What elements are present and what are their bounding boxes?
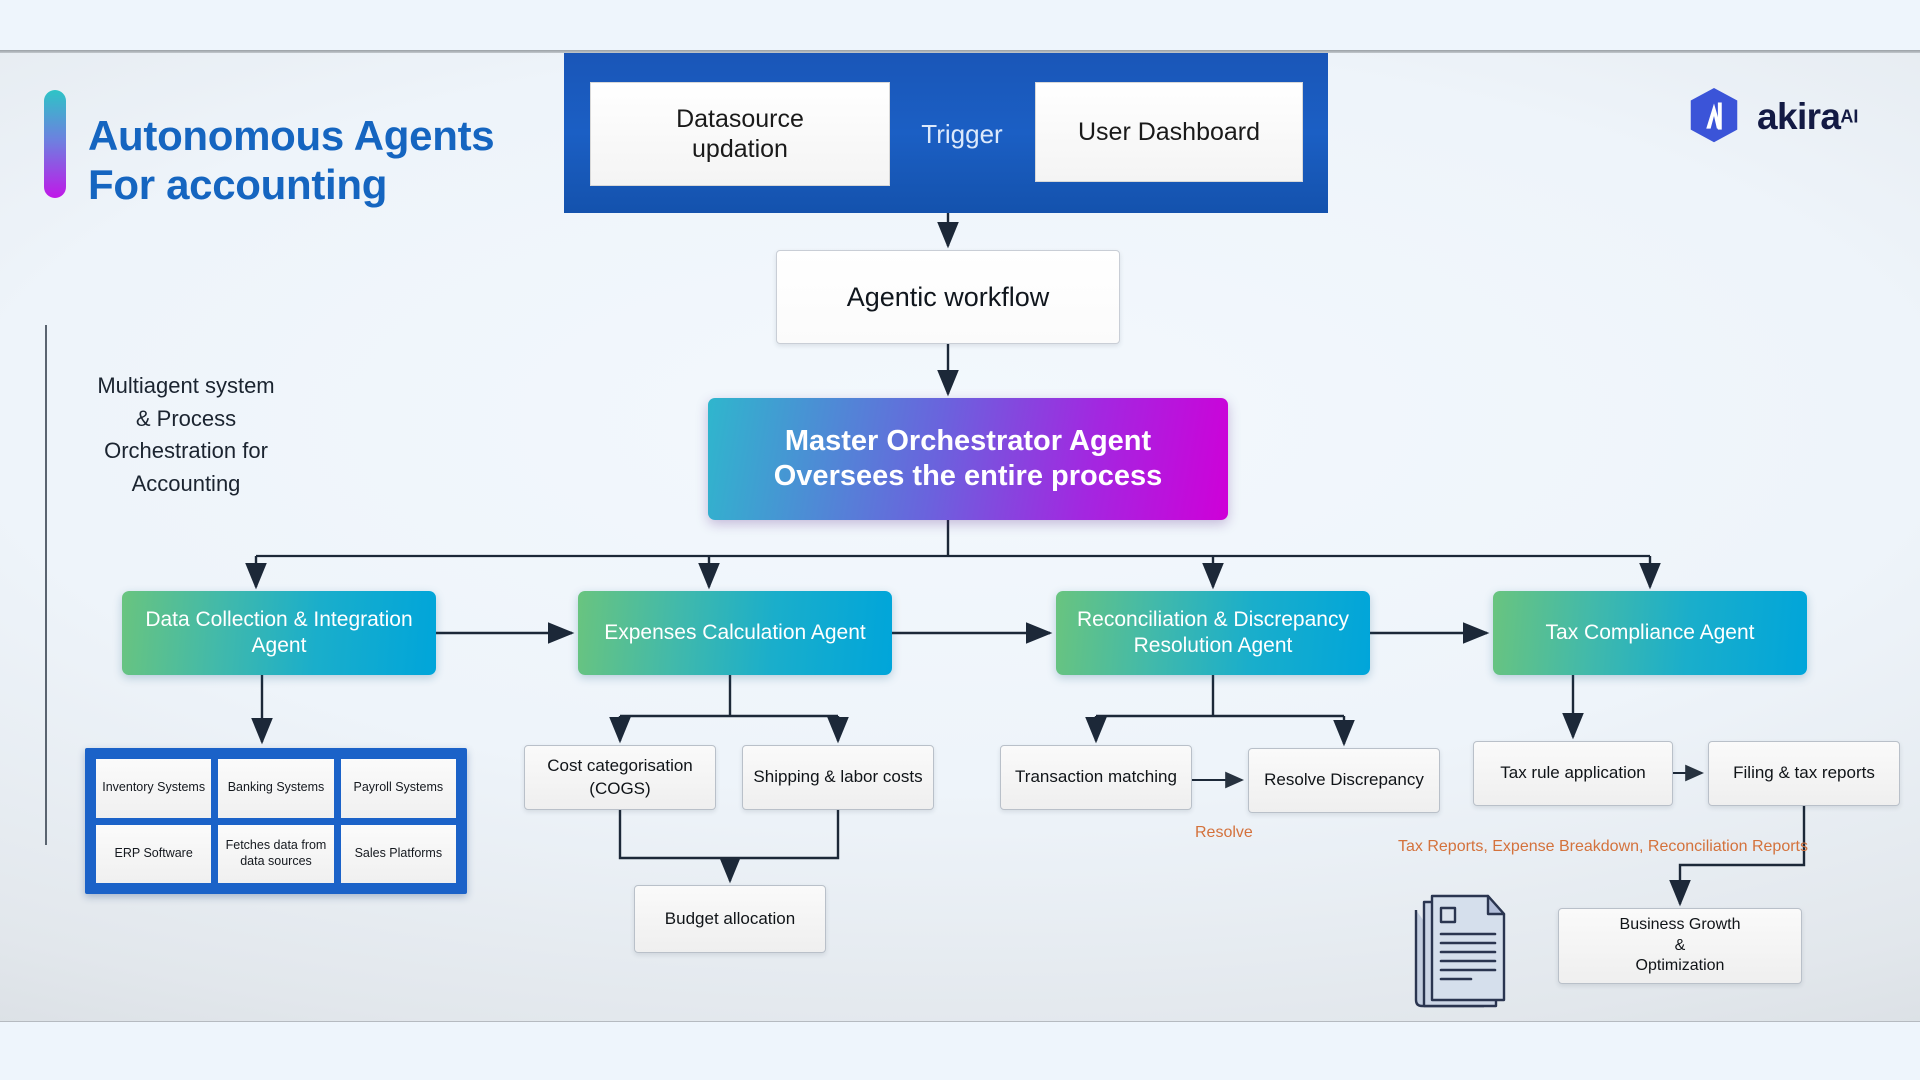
- node-resolve-discrepancy-label: Resolve Discrepancy: [1264, 769, 1424, 791]
- master-orchestrator-node[interactable]: Master Orchestrator Agent Oversees the e…: [708, 398, 1228, 520]
- title-line-1: Autonomous Agents: [88, 112, 558, 161]
- annotation-resolve: Resolve: [1195, 824, 1253, 842]
- node-tax-rule-application-label: Tax rule application: [1500, 762, 1646, 784]
- datasource-tile[interactable]: Inventory Systems: [96, 759, 211, 818]
- node-filing-tax-reports-label: Filing & tax reports: [1733, 762, 1875, 784]
- datasource-tile-label: Payroll Systems: [354, 780, 444, 796]
- brand-superscript: AI: [1840, 107, 1858, 127]
- datasource-tile[interactable]: Fetches data from data sources: [218, 825, 333, 884]
- node-shipping-labor-costs[interactable]: Shipping & labor costs: [742, 745, 934, 810]
- agent-tax-compliance[interactable]: Tax Compliance Agent: [1493, 591, 1807, 675]
- datasource-tile-label: Sales Platforms: [355, 846, 443, 862]
- agent-reconciliation-label: Reconciliation & Discrepancy Resolution …: [1068, 607, 1358, 660]
- datasource-grid: Inventory Systems Banking Systems Payrol…: [85, 748, 467, 894]
- title-accent-bar: [44, 90, 66, 198]
- datasource-tile[interactable]: Banking Systems: [218, 759, 333, 818]
- documents-stack-icon: [1408, 888, 1526, 1016]
- agent-reconciliation[interactable]: Reconciliation & Discrepancy Resolution …: [1056, 591, 1370, 675]
- datasource-tile[interactable]: ERP Software: [96, 825, 211, 884]
- brand-name: akira: [1757, 96, 1840, 137]
- agentic-workflow-node[interactable]: Agentic workflow: [776, 250, 1120, 344]
- caption-rule: [45, 325, 47, 845]
- user-dashboard-label: User Dashboard: [1078, 117, 1260, 147]
- user-dashboard-card[interactable]: User Dashboard: [1035, 82, 1303, 182]
- node-shipping-labor-costs-label: Shipping & labor costs: [753, 766, 922, 788]
- datasource-tile[interactable]: Payroll Systems: [341, 759, 456, 818]
- node-transaction-matching-label: Transaction matching: [1015, 766, 1177, 788]
- node-cost-categorisation[interactable]: Cost categorisation (COGS): [524, 745, 716, 810]
- page-title: Autonomous Agents For accounting: [88, 112, 558, 209]
- datasource-updation-label: Datasource updation: [676, 104, 804, 164]
- datasource-tile[interactable]: Sales Platforms: [341, 825, 456, 884]
- node-transaction-matching[interactable]: Transaction matching: [1000, 745, 1192, 810]
- datasource-tile-label: ERP Software: [115, 846, 193, 862]
- brand-logo: akiraAI: [1683, 86, 1858, 148]
- agent-data-collection-label: Data Collection & Integration Agent: [134, 607, 424, 660]
- title-line-2: For accounting: [88, 161, 558, 210]
- datasource-updation-card[interactable]: Datasource updation: [590, 82, 890, 186]
- brand-wordmark: akiraAI: [1757, 96, 1858, 138]
- datasource-tile-label: Fetches data from data sources: [220, 838, 331, 869]
- annotation-reports: Tax Reports, Expense Breakdown, Reconcil…: [1398, 838, 1808, 856]
- node-business-growth[interactable]: Business Growth & Optimization: [1558, 908, 1802, 984]
- akira-hexagon-logo-icon: [1683, 86, 1745, 148]
- node-budget-allocation-label: Budget allocation: [665, 908, 795, 930]
- caption-text: Multiagent system & Process Orchestratio…: [66, 370, 306, 500]
- node-tax-rule-application[interactable]: Tax rule application: [1473, 741, 1673, 806]
- orchestrator-title: Master Orchestrator Agent: [774, 424, 1162, 459]
- datasource-tile-label: Banking Systems: [228, 780, 325, 796]
- slide-canvas: Autonomous Agents For accounting Datasou…: [0, 0, 1920, 1080]
- orchestrator-subtitle: Oversees the entire process: [774, 459, 1162, 494]
- node-filing-tax-reports[interactable]: Filing & tax reports: [1708, 741, 1900, 806]
- node-budget-allocation[interactable]: Budget allocation: [634, 885, 826, 953]
- agent-tax-compliance-label: Tax Compliance Agent: [1546, 620, 1755, 646]
- node-resolve-discrepancy[interactable]: Resolve Discrepancy: [1248, 748, 1440, 813]
- trigger-text: Trigger: [921, 119, 1002, 150]
- agentic-workflow-label: Agentic workflow: [847, 282, 1050, 313]
- trigger-label: Trigger: [896, 112, 1028, 156]
- agent-data-collection[interactable]: Data Collection & Integration Agent: [122, 591, 436, 675]
- agent-expenses-calculation[interactable]: Expenses Calculation Agent: [578, 591, 892, 675]
- node-cost-categorisation-label: Cost categorisation (COGS): [533, 755, 707, 799]
- agent-expenses-calculation-label: Expenses Calculation Agent: [604, 620, 866, 646]
- datasource-tile-label: Inventory Systems: [102, 780, 205, 796]
- node-business-growth-label: Business Growth & Optimization: [1620, 915, 1741, 977]
